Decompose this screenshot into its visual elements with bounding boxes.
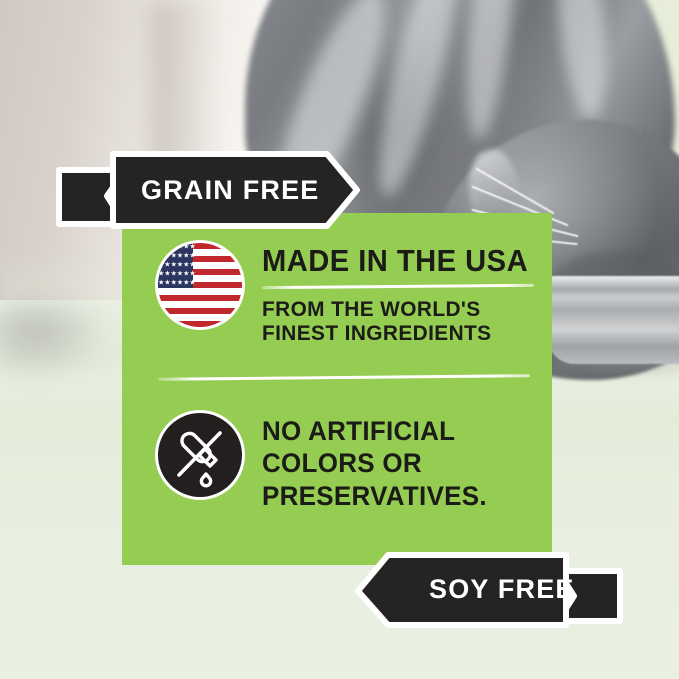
features-panel: ★★★★★★ ★★★★★★ ★★★★★★ ★★★★★★ ★★★★★★ MADE … (122, 213, 552, 565)
foreground-blur-object (0, 300, 110, 380)
heading-underline (262, 284, 534, 289)
made-in-usa-heading: MADE IN THE USA (262, 245, 528, 276)
ribbon-soy-free: SOY FREE (352, 549, 624, 633)
no-artificial-line-2: COLORS OR (262, 447, 487, 479)
made-in-usa-subtext-line-1: FROM THE WORLD'S (262, 297, 537, 321)
feature-block-no-artificial: NO ARTIFICIAL COLORS OR PRESERVATIVES. (158, 413, 492, 512)
feature-graphic: ★★★★★★ ★★★★★★ ★★★★★★ ★★★★★★ ★★★★★★ MADE … (0, 0, 679, 679)
no-eyedropper-icon (158, 413, 242, 497)
ribbon-grain-free-label: GRAIN FREE (141, 177, 320, 204)
ribbon-soy-free-label: SOY FREE (429, 576, 575, 603)
panel-divider (158, 374, 530, 381)
made-in-usa-subtext-line-2: FINEST INGREDIENTS (262, 321, 537, 345)
ribbon-grain-free: GRAIN FREE (55, 146, 365, 238)
no-artificial-line-3: PRESERVATIVES. (262, 480, 487, 512)
food-bowl-rim (544, 276, 679, 298)
flag-stars: ★★★★★★ ★★★★★★ ★★★★★★ ★★★★★★ ★★★★★★ (158, 243, 193, 288)
feature-block-made-in-usa: ★★★★★★ ★★★★★★ ★★★★★★ ★★★★★★ ★★★★★★ MADE … (158, 243, 545, 346)
flag-canton: ★★★★★★ ★★★★★★ ★★★★★★ ★★★★★★ ★★★★★★ (158, 243, 193, 288)
usa-flag-icon: ★★★★★★ ★★★★★★ ★★★★★★ ★★★★★★ ★★★★★★ (158, 243, 242, 327)
no-artificial-line-1: NO ARTIFICIAL (262, 415, 487, 447)
